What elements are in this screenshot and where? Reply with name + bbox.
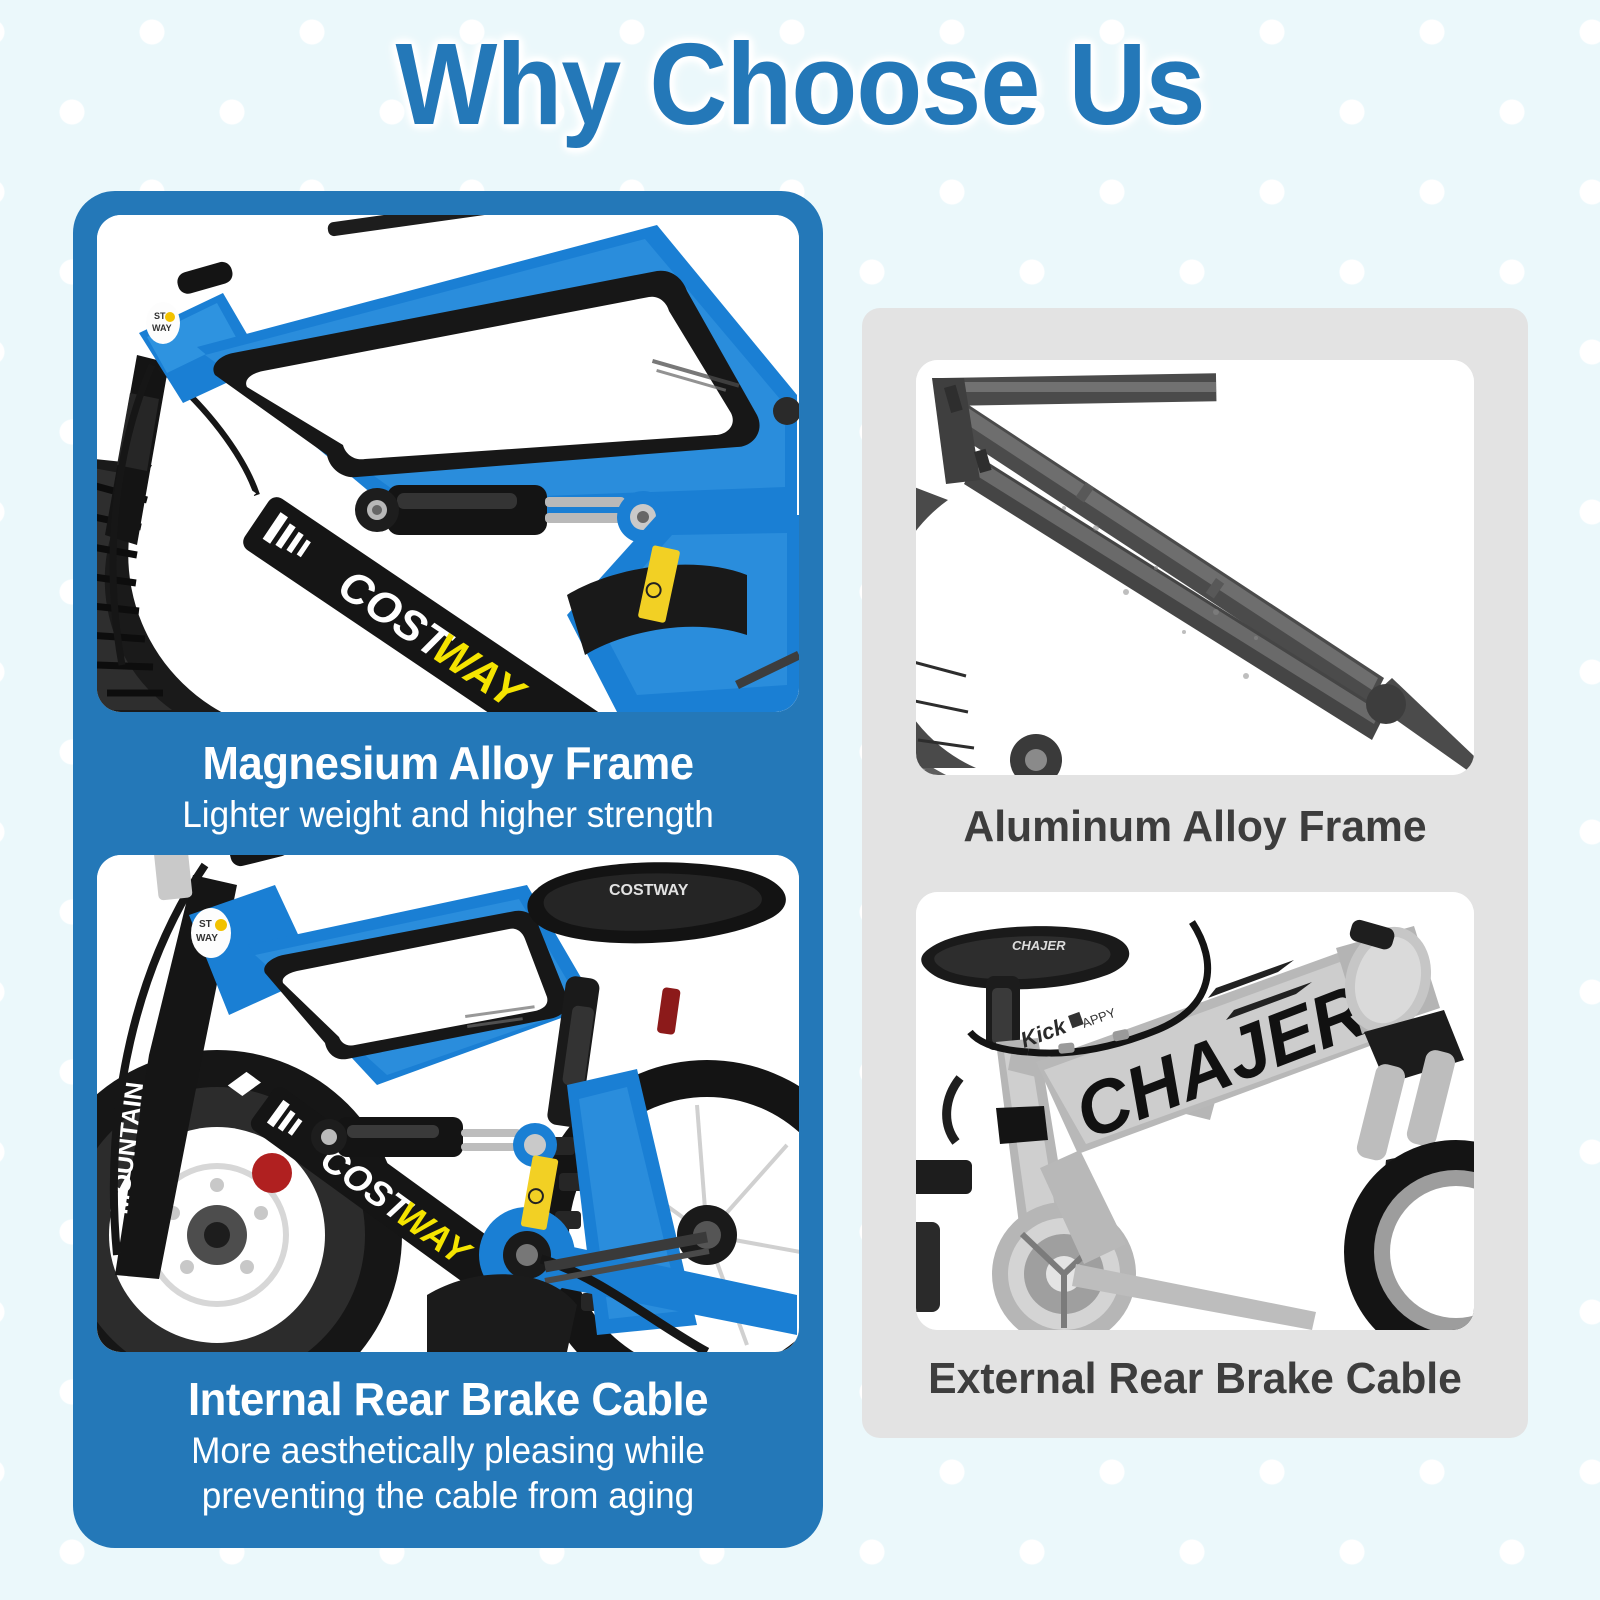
caption-internal-rear-brake-cable: Internal Rear Brake Cable More aesthetic… bbox=[97, 1370, 799, 1518]
page-title: Why Choose Us bbox=[56, 18, 1544, 150]
photo-magnesium-alloy-frame: ST WAY COST WAY bbox=[97, 215, 799, 712]
caption-aluminum-alloy-frame: Aluminum Alloy Frame bbox=[872, 800, 1518, 854]
caption-title: Internal Rear Brake Cable bbox=[115, 1370, 782, 1428]
left-feature-panel: ST WAY COST WAY bbox=[73, 191, 823, 1548]
svg-text:COSTWAY: COSTWAY bbox=[609, 882, 689, 899]
caption-magnesium-alloy-frame: Magnesium Alloy Frame Lighter weight and… bbox=[97, 734, 799, 837]
caption-external-rear-brake-cable: External Rear Brake Cable bbox=[872, 1352, 1518, 1406]
svg-text:ST: ST bbox=[154, 311, 166, 321]
caption-subtitle: Lighter weight and higher strength bbox=[115, 792, 782, 837]
caption-subtitle-line-1: More aesthetically pleasing while bbox=[115, 1428, 782, 1473]
svg-text:ST: ST bbox=[199, 919, 212, 930]
right-comparison-panel: Aluminum Alloy Frame CHAJER CHAJER bbox=[862, 308, 1528, 1438]
photo-internal-rear-brake-cable: MOUNTAIN ST WAY bbox=[97, 855, 799, 1352]
photo-external-rear-brake-cable: CHAJER CHAJER Kick APPY bbox=[916, 892, 1474, 1330]
svg-text:WAY: WAY bbox=[196, 933, 218, 944]
caption-subtitle-line-2: preventing the cable from aging bbox=[115, 1473, 782, 1518]
svg-text:WAY: WAY bbox=[152, 323, 172, 333]
caption-title: Magnesium Alloy Frame bbox=[115, 734, 782, 792]
svg-text:CHAJER: CHAJER bbox=[1012, 938, 1066, 953]
photo-aluminum-alloy-frame bbox=[916, 360, 1474, 775]
